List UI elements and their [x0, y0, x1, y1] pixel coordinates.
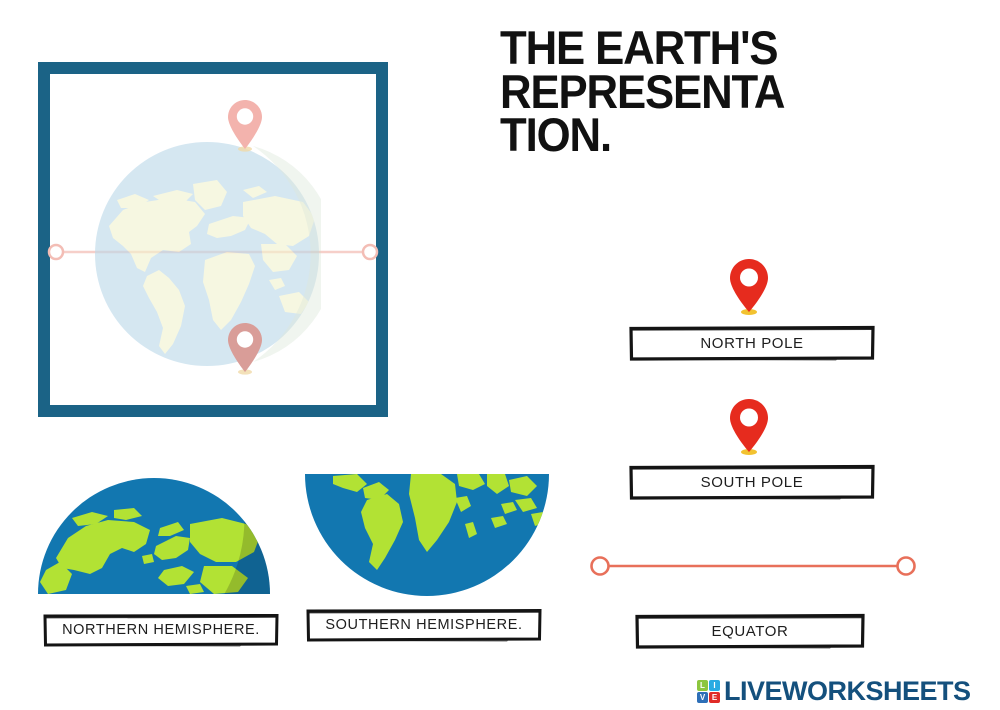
- liveworksheets-logo: L I V E LIVEWORKSHEETS: [697, 677, 971, 705]
- answer-box-label: NORTHERN HEMISPHERE.: [62, 622, 260, 638]
- globe-frame-border: [38, 62, 388, 417]
- south-pole-pin-icon: [727, 397, 771, 457]
- logo-tile-l: L: [697, 680, 708, 691]
- logo-tile-v: V: [697, 692, 708, 703]
- answer-box-southern-hemisphere[interactable]: SOUTHERN HEMISPHERE.: [305, 608, 543, 642]
- northern-hemisphere-illustration: [38, 474, 270, 594]
- answer-box-equator[interactable]: EQUATOR: [634, 613, 866, 649]
- logo-tile-e: E: [709, 692, 720, 703]
- southern-hemisphere-illustration: [305, 474, 549, 596]
- logo-tiles: L I V E: [697, 680, 720, 703]
- north-pole-pin-icon: [727, 257, 771, 317]
- worksheet-page: THE EARTH'S REPRESENTA TION.: [0, 0, 1000, 710]
- answer-box-north-pole[interactable]: NORTH POLE: [628, 325, 876, 361]
- answer-box-label: SOUTHERN HEMISPHERE.: [325, 617, 522, 633]
- answer-box-south-pole[interactable]: SOUTH POLE: [628, 464, 876, 500]
- logo-tile-i: I: [709, 680, 720, 691]
- answer-box-label: SOUTH POLE: [701, 474, 804, 491]
- answer-box-label: NORTH POLE: [700, 335, 803, 352]
- answer-box-label: EQUATOR: [712, 623, 789, 640]
- logo-wordmark: LIVEWORKSHEETS: [724, 678, 971, 705]
- answer-box-northern-hemisphere[interactable]: NORTHERN HEMISPHERE.: [42, 613, 280, 647]
- equator-line-icon: [586, 552, 920, 580]
- page-title: THE EARTH'S REPRESENTA TION.: [500, 26, 891, 157]
